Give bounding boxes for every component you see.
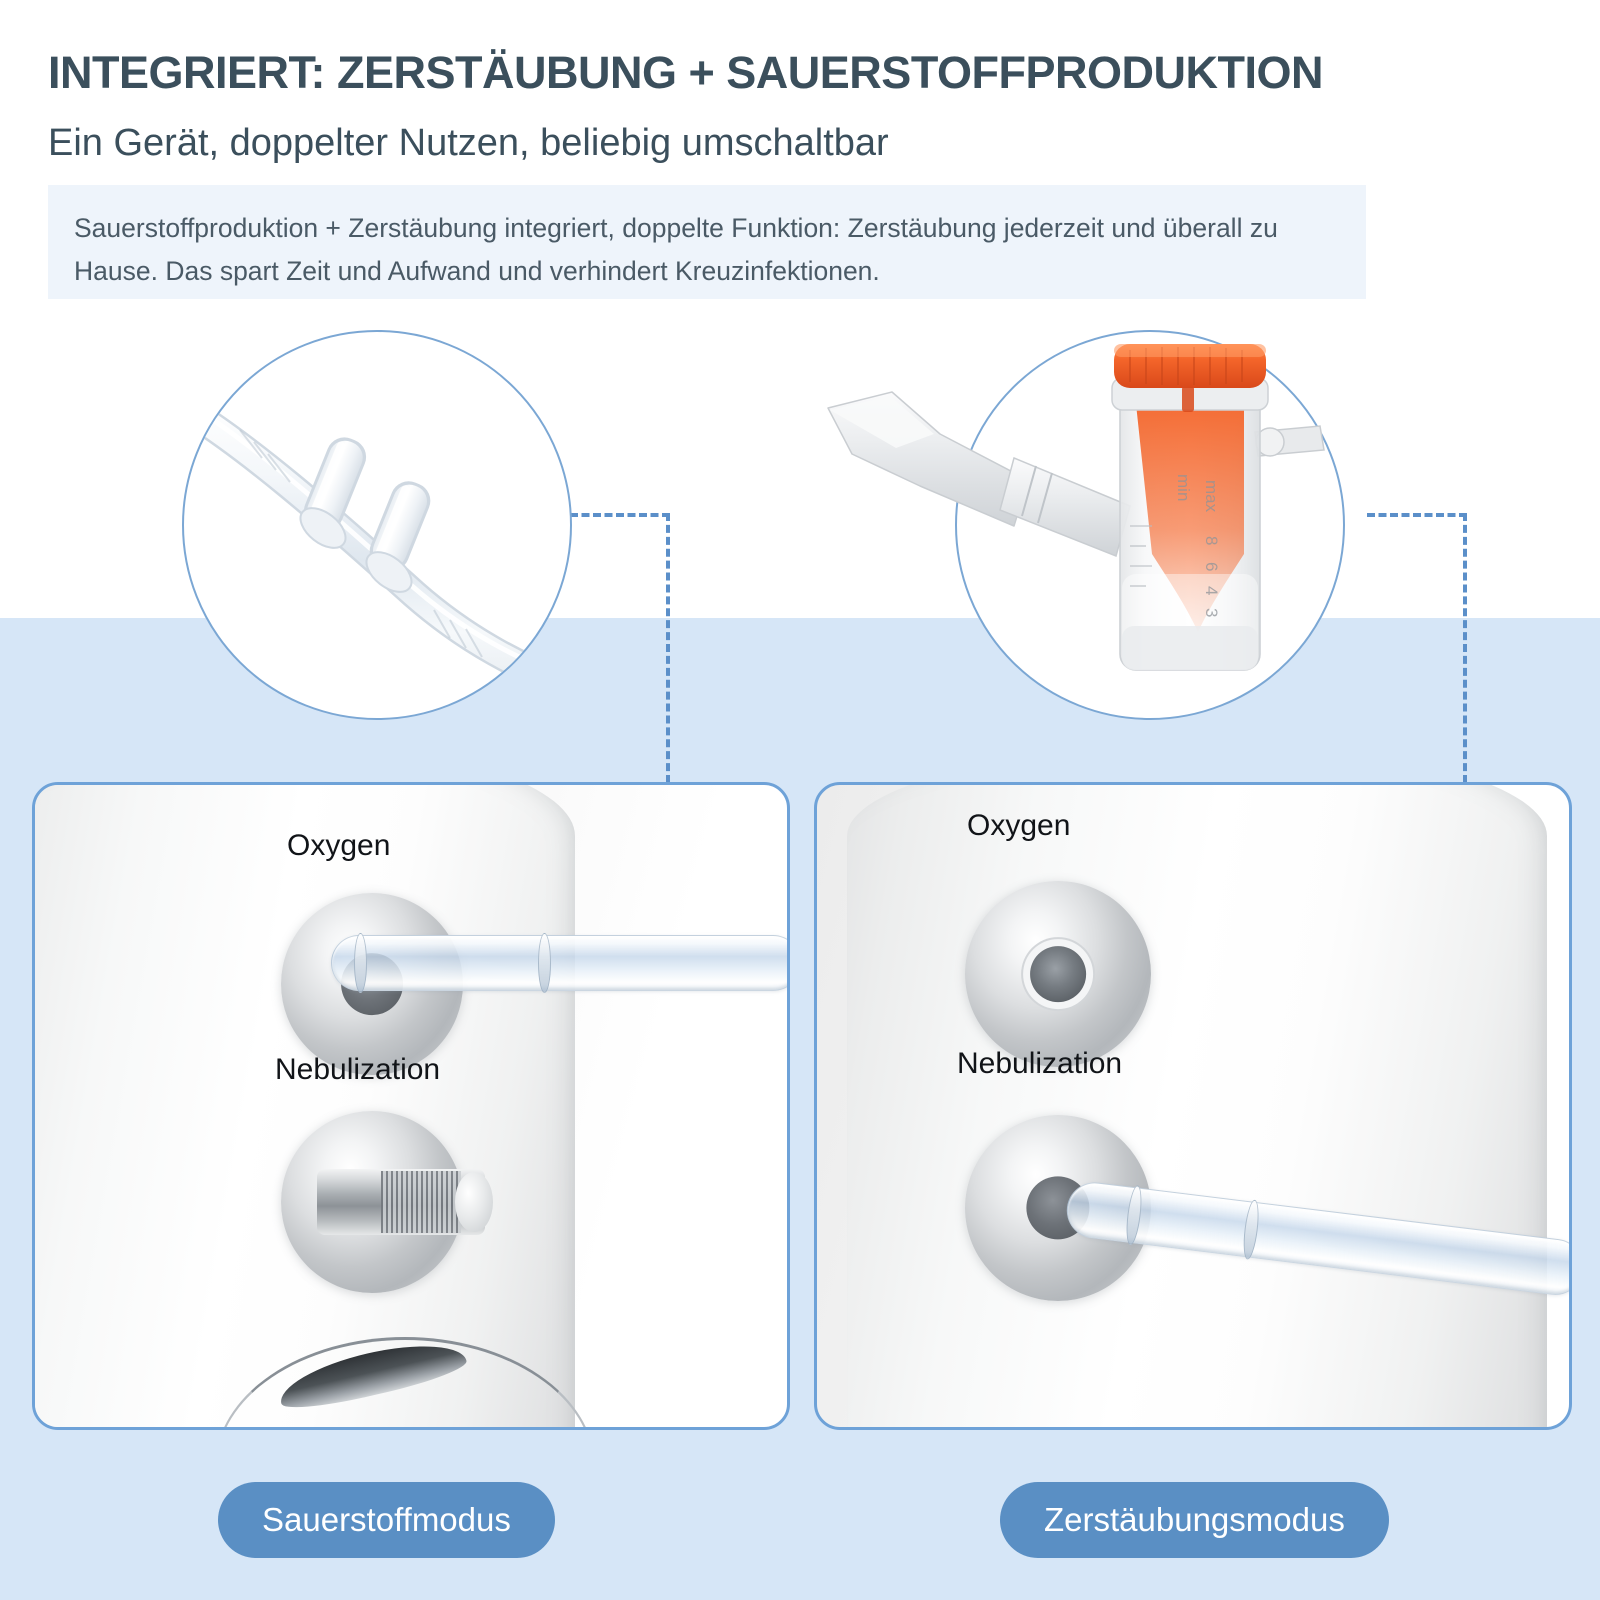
svg-text:4: 4	[1202, 586, 1221, 595]
port-oxygen[interactable]	[965, 881, 1151, 1067]
page-title: INTEGRIERT: ZERSTÄUBUNG + SAUERSTOFFPROD…	[48, 44, 1568, 102]
port-label-oxygen: Oxygen	[287, 829, 390, 863]
svg-text:max: max	[1202, 480, 1221, 513]
port-label-oxygen: Oxygen	[967, 809, 1070, 843]
device-body	[32, 782, 575, 1430]
svg-text:3: 3	[1202, 608, 1221, 617]
nasal-cannula-icon	[184, 332, 570, 718]
connector-line-right-vertical	[1463, 513, 1467, 783]
connector-line-left-horizontal	[570, 513, 670, 517]
nebulizer-cup-icon: max 8 6 4 3 min	[800, 330, 1360, 750]
svg-text:min: min	[1174, 474, 1193, 501]
knurl-texture	[381, 1171, 462, 1233]
description-box: Sauerstoffproduktion + Zerstäubung integ…	[48, 185, 1366, 299]
connector-line-right-horizontal	[1367, 513, 1467, 517]
panel-nebulization-mode: Oxygen Nebulization	[814, 782, 1572, 1430]
description-text: Sauerstoffproduktion + Zerstäubung integ…	[74, 207, 1340, 293]
tube-collar	[354, 933, 367, 993]
mode-label-nebulization[interactable]: Zerstäubungsmodus	[1000, 1482, 1389, 1558]
panel-oxygen-mode: Oxygen Nebulization	[32, 782, 790, 1430]
device-body	[847, 782, 1547, 1430]
tube-collar	[538, 933, 551, 993]
tube-collar	[1241, 1199, 1261, 1260]
svg-text:8: 8	[1202, 536, 1221, 545]
port-label-nebulization: Nebulization	[957, 1047, 1122, 1081]
inset-nasal-cannula	[182, 330, 572, 720]
mode-label-oxygen[interactable]: Sauerstoffmodus	[218, 1482, 555, 1558]
tube-oxygen	[331, 935, 790, 991]
fitting-cap	[455, 1172, 493, 1232]
nebulization-cap-fitting[interactable]	[317, 1169, 485, 1235]
tube-collar	[1124, 1185, 1144, 1246]
svg-text:6: 6	[1202, 562, 1221, 571]
infographic-page: INTEGRIERT: ZERSTÄUBUNG + SAUERSTOFFPROD…	[0, 0, 1600, 1600]
connector-line-left-vertical	[666, 513, 670, 783]
port-label-nebulization: Nebulization	[275, 1053, 440, 1087]
page-subtitle: Ein Gerät, doppelter Nutzen, beliebig um…	[48, 118, 1548, 168]
